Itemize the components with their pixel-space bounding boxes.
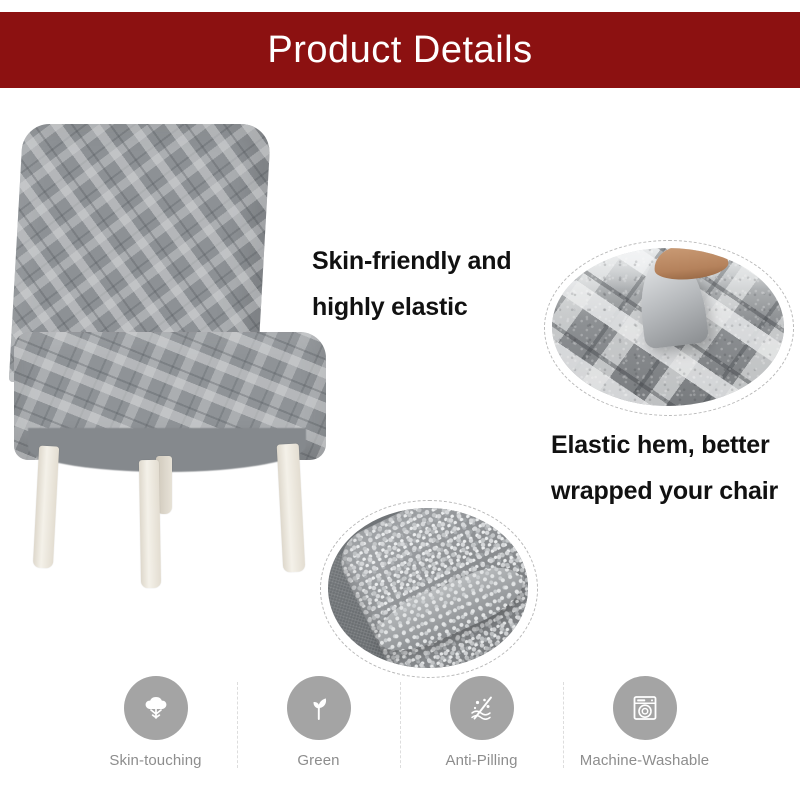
chair-slipcover-image (8, 108, 338, 578)
chair-leg-front-right (277, 444, 306, 573)
product-hero-section: Skin-friendly and highly elastic Elastic… (0, 88, 800, 668)
feature-skin-touching: Skin-touching (74, 676, 237, 769)
callout-elastic-hem: Elastic hem, better wrapped your chair (551, 422, 800, 514)
cotton-boll-icon (124, 676, 188, 740)
chair-leg-center (139, 460, 161, 588)
feature-label: Anti-Pilling (445, 752, 517, 769)
fabric-stretch-closeup-photo (552, 248, 784, 406)
product-details-banner: Product Details (0, 12, 800, 88)
callout-skin-friendly: Skin-friendly and highly elastic (312, 238, 542, 330)
feature-label: Machine-Washable (580, 752, 709, 769)
feature-badges-row: Skin-touching Green Anti-Pilling (0, 676, 800, 786)
anti-pilling-icon (450, 676, 514, 740)
feature-green: Green (237, 676, 400, 769)
chair-leg-front-left (33, 446, 59, 569)
elastic-hem-closeup-photo (328, 508, 528, 668)
feature-label: Green (297, 752, 339, 769)
feature-label: Skin-touching (109, 752, 201, 769)
sprout-leaf-icon (287, 676, 351, 740)
feature-anti-pilling: Anti-Pilling (400, 676, 563, 769)
page-title: Product Details (267, 31, 532, 69)
feature-machine-washable: Machine-Washable (563, 676, 726, 769)
washing-machine-icon (613, 676, 677, 740)
